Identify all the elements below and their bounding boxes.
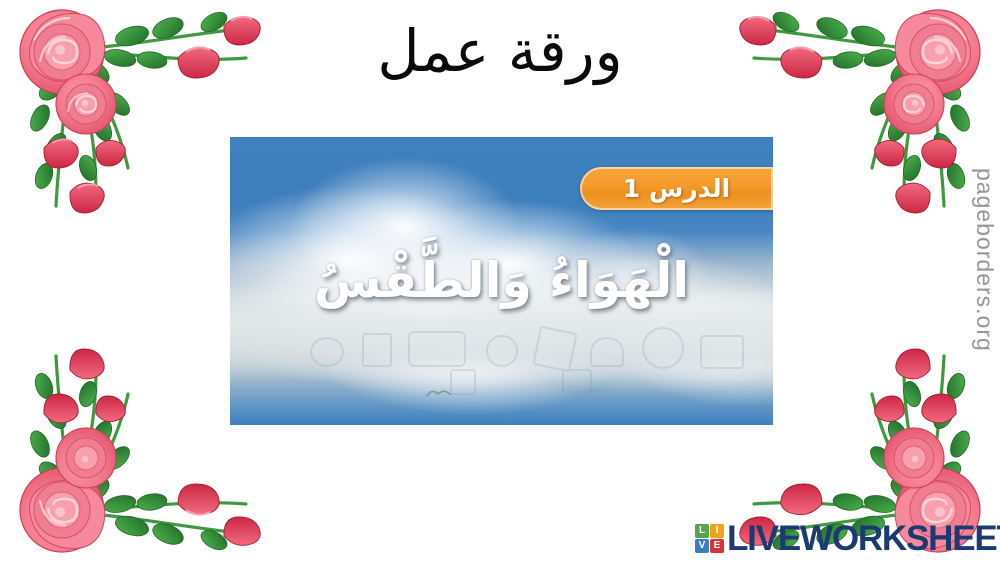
live-tile-e: E: [710, 539, 724, 553]
live-logo-tiles: L I V E: [695, 524, 724, 553]
bird-icon: [426, 387, 452, 401]
worksheet-page: ورقة عمل الدرس 1: [0, 0, 1000, 562]
live-tile-v: V: [695, 539, 709, 553]
liveworksheets-wordmark: LIVEWORKSHEETS: [727, 521, 1000, 556]
lesson-number-label: الدرس 1: [623, 174, 730, 203]
live-tile-l: L: [695, 524, 709, 538]
page-title: ورقة عمل: [0, 18, 1000, 85]
liveworksheets-logo[interactable]: L I V E LIVEWORKSHEETS: [695, 518, 1000, 558]
live-tile-i: I: [710, 524, 724, 538]
pageborders-watermark: pageborders.org: [971, 168, 998, 352]
lesson-title: الْهَوَاءُ وَالطَّقْسُ: [230, 252, 773, 309]
lesson-image-card: الدرس 1 الْهَوَاءُ وَالطَّقْسُ: [230, 137, 773, 425]
rose-corner-bottom-left: [0, 330, 262, 562]
lesson-number-badge: الدرس 1: [580, 167, 773, 210]
